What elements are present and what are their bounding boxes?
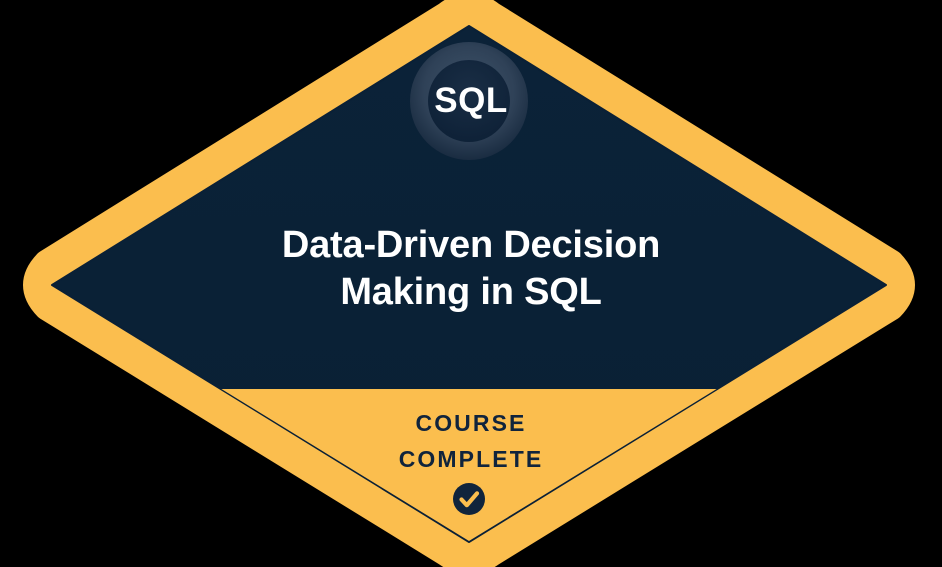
- course-completion-badge: SQL Data-Driven Decision Making in SQL C…: [0, 0, 942, 567]
- check-circle-icon: [453, 483, 485, 515]
- sql-ring-icon: [410, 42, 528, 160]
- badge-diamond-graphic: [0, 0, 942, 567]
